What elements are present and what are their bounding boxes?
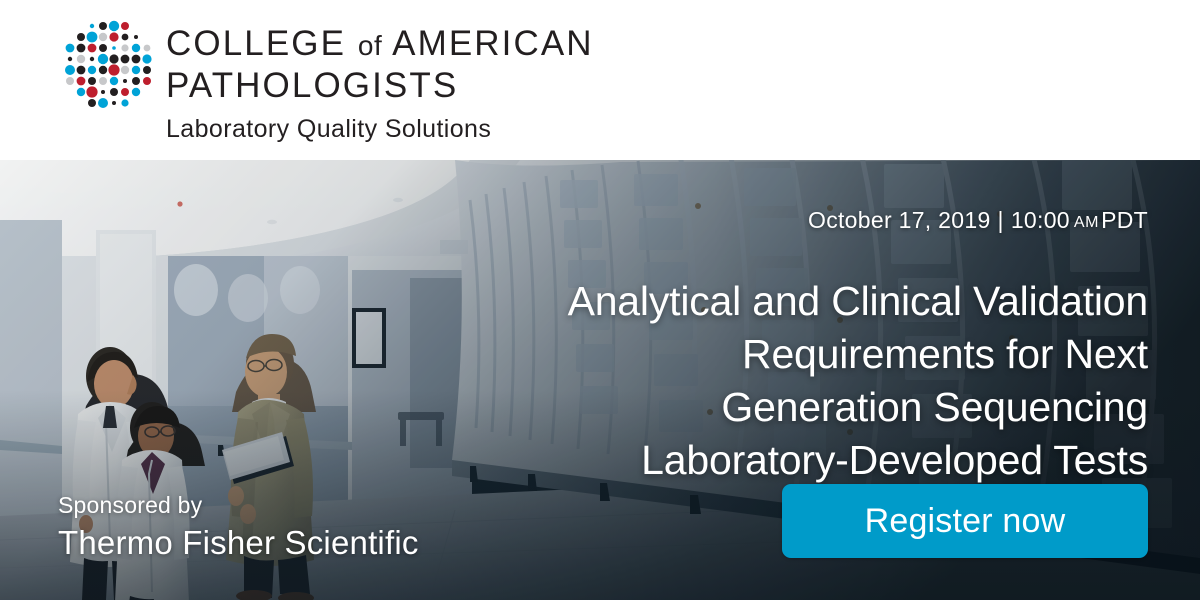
brand-wordmark: COLLEGE of AMERICAN PATHOLOGISTS Laborat… <box>166 24 786 143</box>
brand-name-of: of <box>358 30 382 61</box>
event-meridiem: AM <box>1070 214 1101 231</box>
brand-name-line-2: PATHOLOGISTS <box>166 66 786 106</box>
title-line-1: Analytical and Clinical Validation <box>408 275 1148 328</box>
title-line-3: Generation Sequencing <box>408 381 1148 434</box>
brand-name-american: AMERICAN <box>392 24 594 63</box>
webinar-title: Analytical and Clinical Validation Requi… <box>408 275 1148 487</box>
webinar-promo-banner: COLLEGE of AMERICAN PATHOLOGISTS Laborat… <box>0 0 1200 600</box>
datetime-separator: | <box>991 207 1011 233</box>
title-line-2: Requirements for Next <box>408 328 1148 381</box>
brand-name-college: COLLEGE <box>166 24 346 63</box>
sponsor-block: Sponsored by Thermo Fisher Scientific <box>58 490 419 564</box>
brand-header: COLLEGE of AMERICAN PATHOLOGISTS Laborat… <box>0 0 1200 160</box>
register-now-button[interactable]: Register now <box>782 484 1148 558</box>
event-datetime: October 17, 2019|10:00AMPDT <box>808 207 1148 234</box>
sponsor-label: Sponsored by <box>58 490 419 520</box>
event-time-text: 10:00 <box>1011 207 1070 233</box>
event-timezone: PDT <box>1101 207 1148 233</box>
brand-name-line-1: COLLEGE of AMERICAN <box>166 24 786 66</box>
cap-dot-cluster-logo <box>55 18 155 118</box>
event-date-text: October 17, 2019 <box>808 207 991 233</box>
title-line-4: Laboratory-Developed Tests <box>408 434 1148 487</box>
brand-tagline: Laboratory Quality Solutions <box>166 115 786 143</box>
sponsor-name: Thermo Fisher Scientific <box>58 522 419 564</box>
